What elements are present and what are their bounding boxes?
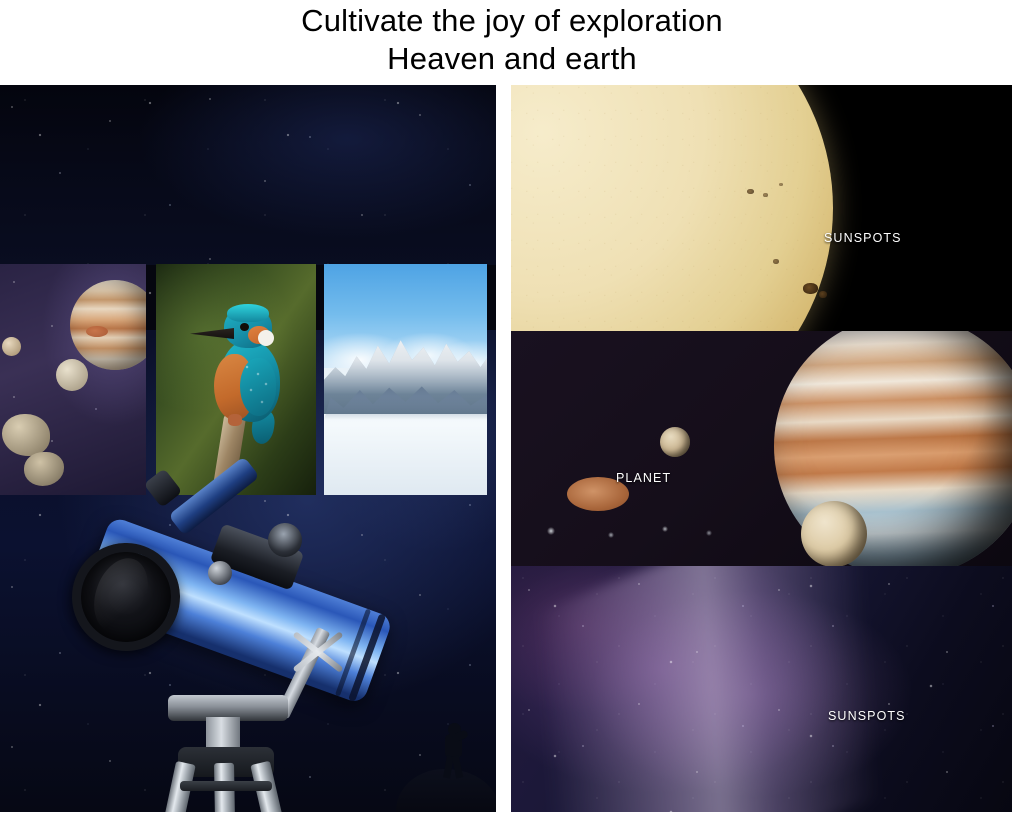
title-line-1: Cultivate the joy of exploration xyxy=(0,2,1024,40)
mount-cross-bracket xyxy=(288,621,348,681)
moon-europa-icon xyxy=(801,501,867,566)
sun-granulation xyxy=(511,85,833,331)
thumbnail-kingfisher-bird[interactable] xyxy=(156,264,316,495)
page-root: Cultivate the joy of exploration Heaven … xyxy=(0,0,1024,817)
stargazer-silhouette-icon xyxy=(436,723,470,777)
bird-beak xyxy=(190,328,234,339)
sunspot-3 xyxy=(779,183,783,186)
page-title: Cultivate the joy of exploration Heaven … xyxy=(0,2,1024,78)
thumbnail-jupiter-and-moons[interactable] xyxy=(0,264,146,495)
focus-knob xyxy=(208,561,232,585)
bird-crown xyxy=(227,304,269,322)
moon-io-icon xyxy=(660,427,690,457)
planet-panel: PLANET xyxy=(511,331,1012,566)
sunspot-2 xyxy=(763,193,768,197)
sunspot-1 xyxy=(747,189,754,194)
mount-neck xyxy=(206,717,240,751)
bird-eye xyxy=(240,323,249,331)
thumbnail-snow-mountains[interactable] xyxy=(324,264,487,495)
right-image-column: SUNSPOTS PLANET SUNSPOTS xyxy=(511,85,1012,812)
tripod-brace xyxy=(180,781,272,791)
kingfisher-icon xyxy=(196,306,282,436)
sunspot-6 xyxy=(819,291,827,298)
bird-wing-spots xyxy=(242,362,274,412)
sunspot-5 xyxy=(803,283,818,294)
left-image-panel xyxy=(0,85,496,812)
jupiter-cloud-ovals xyxy=(541,519,721,543)
panel-label-sunspots-top: SUNSPOTS xyxy=(824,231,902,245)
sun-panel: SUNSPOTS xyxy=(511,85,1012,331)
galaxy-panel: SUNSPOTS xyxy=(511,566,1012,812)
bird-foot xyxy=(228,414,242,426)
bird-throat-patch xyxy=(258,330,274,346)
moon-small-icon xyxy=(2,337,21,356)
telescope-product-scene xyxy=(0,495,496,812)
thumbnail-strip xyxy=(0,264,496,495)
panel-label-planet: PLANET xyxy=(616,471,671,485)
silhouette-leg-2 xyxy=(452,756,463,779)
sunspot-4 xyxy=(773,259,779,264)
panel-label-sunspots-bottom: SUNSPOTS xyxy=(828,709,906,723)
asteroid-icon-1 xyxy=(2,414,50,456)
great-red-spot-icon xyxy=(86,326,108,337)
galaxy-stars-layer-3 xyxy=(511,566,1012,812)
sun-disc-icon xyxy=(511,85,833,331)
moon-large-icon xyxy=(56,359,88,391)
title-line-2: Heaven and earth xyxy=(0,40,1024,78)
